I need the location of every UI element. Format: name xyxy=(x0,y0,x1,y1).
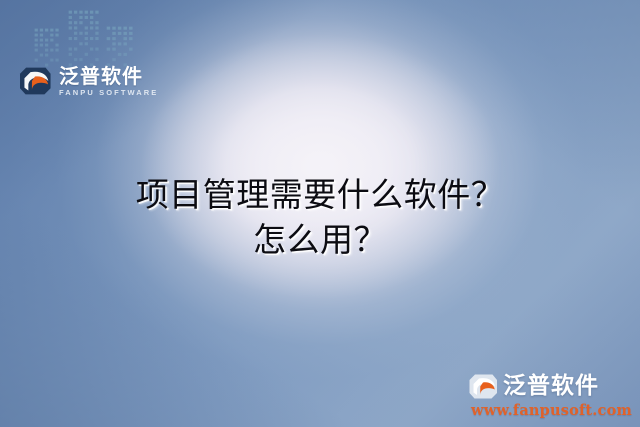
brand-name-en: FANPU SOFTWARE xyxy=(59,89,158,97)
watermark-bottom-right: 泛普软件 www.fanpusoft.com xyxy=(468,373,632,419)
brand-logo-top-left: 泛普软件 FANPU SOFTWARE xyxy=(18,66,158,97)
brand-name-cn: 泛普软件 xyxy=(59,66,158,86)
background-glow-core xyxy=(141,34,499,299)
watermark-name-cn: 泛普软件 xyxy=(503,375,599,398)
headline-line-1: 项目管理需要什么软件？ xyxy=(0,172,640,217)
watermark-url: www.fanpusoft.com xyxy=(471,402,632,419)
fanpu-logo-mark-icon xyxy=(18,66,52,96)
brand-wordmark: 泛普软件 FANPU SOFTWARE xyxy=(59,66,158,97)
fanpu-logo-mark-icon xyxy=(468,373,498,400)
headline-line-2: 怎么用？ xyxy=(0,217,640,262)
pixel-cityscape-icon xyxy=(30,0,142,68)
watermark-logo-row: 泛普软件 xyxy=(468,373,632,400)
headline-block: 项目管理需要什么软件？ 怎么用？ xyxy=(0,172,640,262)
banner-root: 泛普软件 FANPU SOFTWARE 项目管理需要什么软件？ 怎么用？ 泛普软… xyxy=(0,0,640,427)
